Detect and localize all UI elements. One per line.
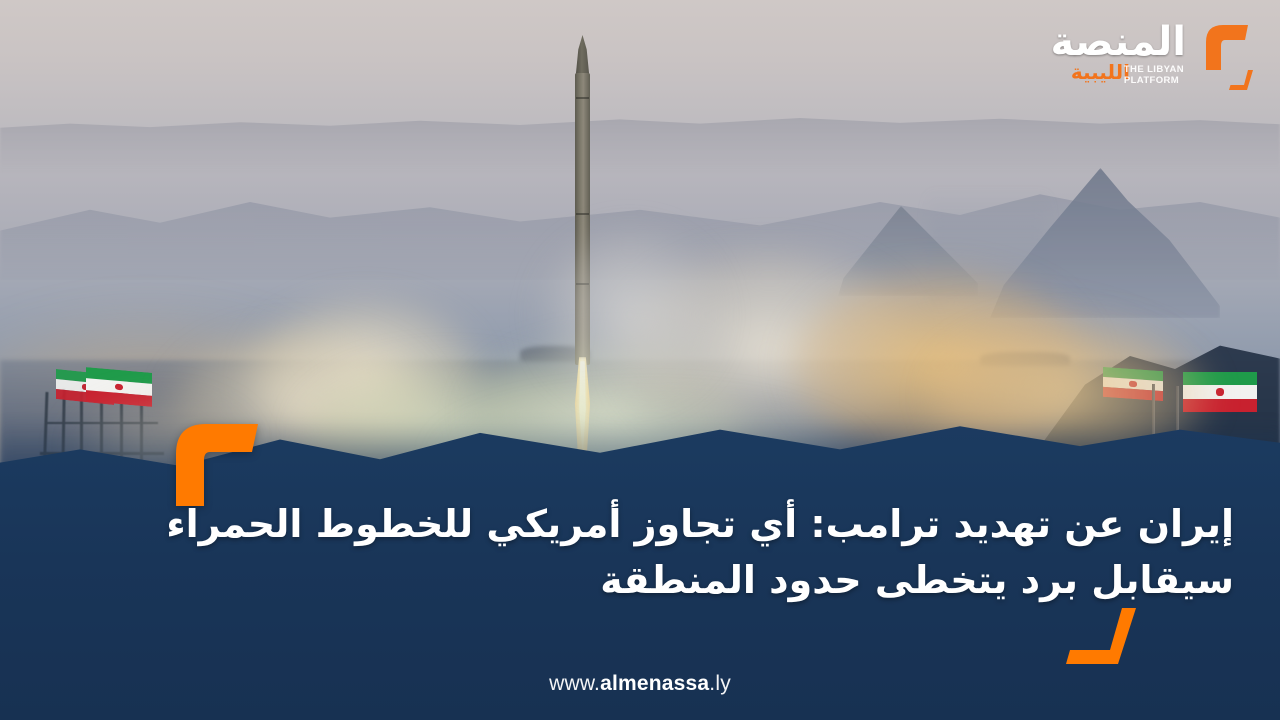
news-card: إيران عن تهديد ترامب: أي تجاوز أمريكي لل… (0, 0, 1280, 720)
headline-line-2: سيقابل برد يتخطى حدود المنطقة (174, 552, 1234, 608)
url-tld: .ly (709, 672, 731, 695)
logo-bracket-small-icon (1226, 70, 1256, 92)
logo-arabic-name: المنصة (1050, 22, 1186, 62)
logo-bracket-large-icon (1198, 22, 1250, 70)
logo-english-line-2: PLATFORM (1124, 75, 1184, 86)
logo-english-line-1: THE LIBYAN (1124, 64, 1184, 75)
headline-line-1: إيران عن تهديد ترامب: أي تجاوز أمريكي لل… (174, 496, 1234, 552)
smoke-column-upper (540, 230, 720, 400)
url-prefix: www. (549, 672, 600, 695)
website-url[interactable]: www.almenassa.ly (0, 672, 1280, 696)
orange-bracket-bottom-right-icon (1058, 608, 1148, 670)
logo-arabic-subtitle: الليبية (1071, 62, 1130, 82)
orange-bracket-top-left-icon (158, 418, 264, 506)
brand-logo[interactable]: المنصة الليبية THE LIBYAN PLATFORM (1042, 14, 1262, 100)
headline: إيران عن تهديد ترامب: أي تجاوز أمريكي لل… (174, 496, 1234, 608)
logo-english-name: THE LIBYAN PLATFORM (1124, 64, 1184, 86)
url-domain-name: almenassa (600, 672, 709, 695)
